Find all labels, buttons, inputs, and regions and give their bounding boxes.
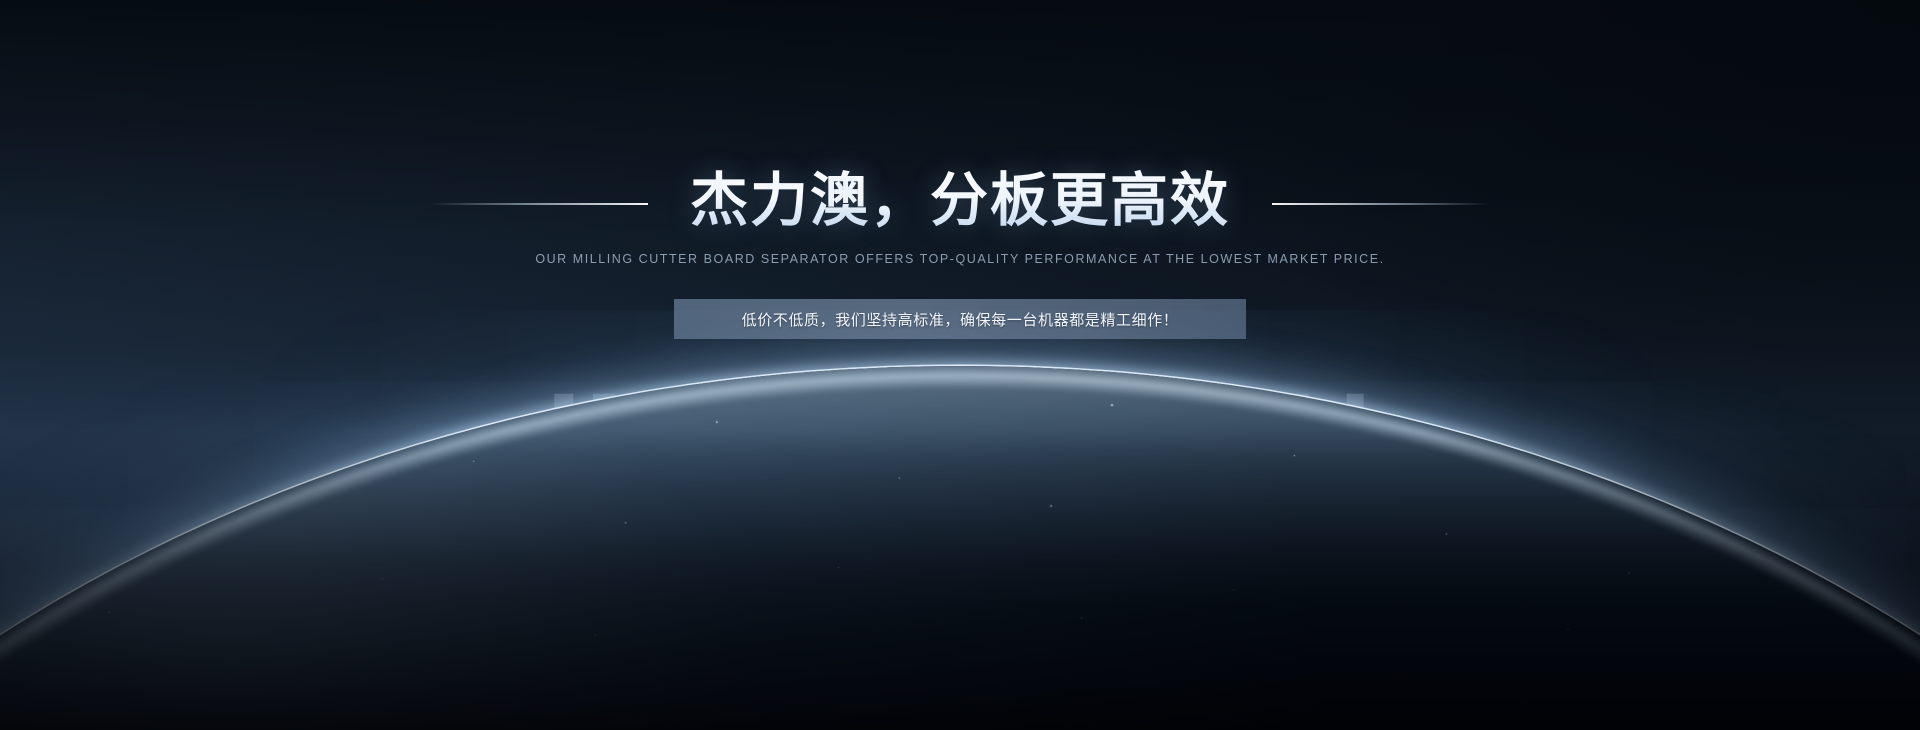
title-rule-left-icon: [430, 203, 648, 205]
earth-horizon: [0, 310, 1920, 730]
title-rule-right-icon: [1272, 203, 1490, 205]
notice-row: 低价不低质，我们坚持高标准，确保每一台机器都是精工细作！: [0, 299, 1920, 339]
page-title: 杰力澳，分板更高效: [688, 167, 1232, 242]
hero-subtitle: OUR MILLING CUTTER BOARD SEPARATOR OFFER…: [0, 252, 1920, 266]
earth-bottom-shadow: [0, 430, 1920, 730]
notice-banner: 低价不低质，我们坚持高标准，确保每一台机器都是精工细作！: [674, 299, 1246, 339]
hero-banner: INNOVATION 杰力澳，分板更高效 OUR MILLING CUTTER …: [0, 0, 1920, 730]
